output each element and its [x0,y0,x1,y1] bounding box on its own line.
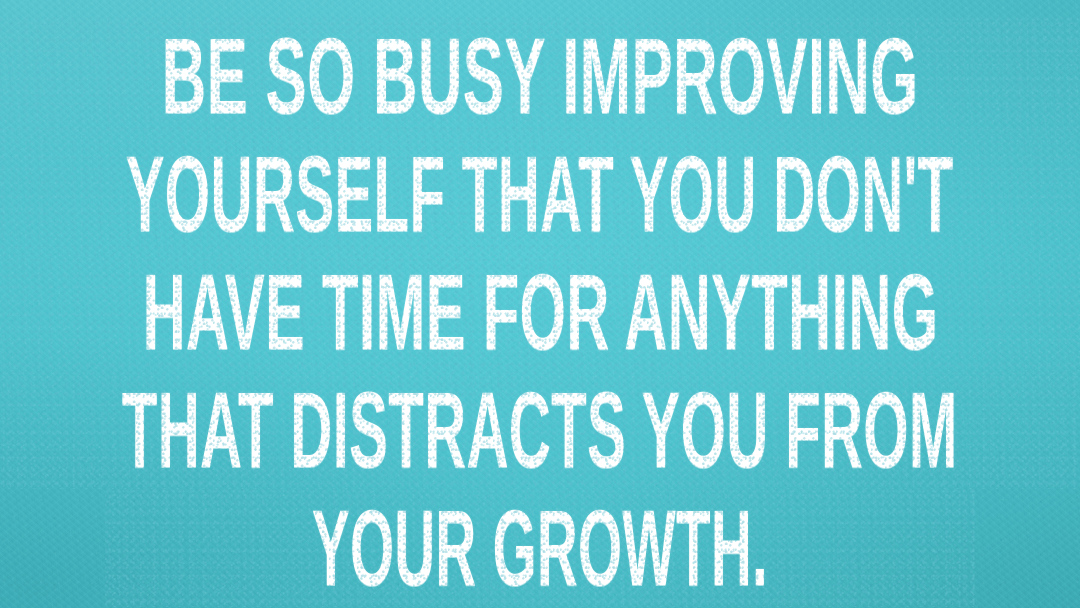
quote-line-5-wrapper: YOUR GROWTH. [105,489,975,607]
quote-poster: BE SO BUSY IMPROVING YOURSELF THAT YOU D… [0,0,1080,608]
quote-line-3-wrapper: HAVE TIME FOR ANYTHING [0,253,1080,371]
quote-line-4-wrapper: THAT DISTRACTS YOU FROM [0,371,1080,489]
quote-line-1: BE SO BUSY IMPROVING [162,17,919,135]
quote-line-2-wrapper: YOURSELF THAT YOU DON'T [0,135,1080,253]
quote-line-1-wrapper: BE SO BUSY IMPROVING [0,17,1080,135]
quote-line-2: YOURSELF THAT YOU DON'T [126,135,954,253]
quote-line-3: HAVE TIME FOR ANYTHING [142,253,938,371]
quote-line-4: THAT DISTRACTS YOU FROM [122,371,958,489]
quote-line-5: YOUR GROWTH. [312,489,768,607]
quote-text-block: BE SO BUSY IMPROVING YOURSELF THAT YOU D… [0,0,1080,608]
